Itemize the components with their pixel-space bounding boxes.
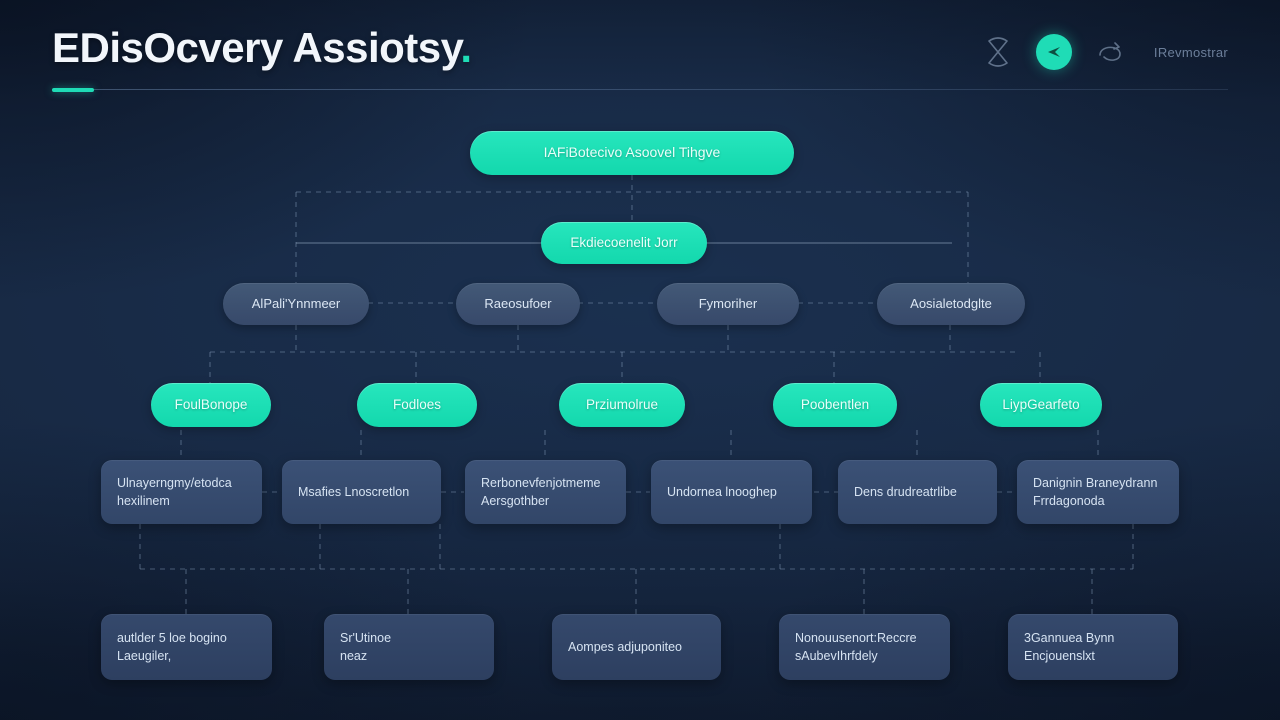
node-level6-2[interactable]: Sr'Utinoeneaz — [324, 614, 494, 680]
node-level3-4[interactable]: Aosialetodglte — [877, 283, 1025, 325]
node-level2[interactable]: Ekdiecoenelit Jorr — [541, 222, 707, 264]
node-level4-4[interactable]: Poobentlen — [773, 383, 897, 427]
node-level6-5[interactable]: 3Gannuea BynnEncjouenslxt — [1008, 614, 1178, 680]
header-toolbar: IRevmostrar — [978, 28, 1228, 76]
node-root[interactable]: IAFiBotecivo Asoovel Tihgve — [470, 131, 794, 175]
page-header: EDisOcvery Assiotsy. IRevmostrar — [0, 0, 1280, 96]
node-level4-2[interactable]: Fodloes — [357, 383, 477, 427]
node-level5-3[interactable]: RerbonevfenjotmemeAersgothber — [465, 460, 626, 524]
diagram-canvas: IAFiBotecivo Asoovel Tihgve Ekdiecoeneli… — [0, 0, 1280, 720]
node-level5-5[interactable]: Dens drudreatrlibe — [838, 460, 997, 524]
divider-line — [52, 89, 1228, 90]
node-level3-2[interactable]: Raeosufoer — [456, 283, 580, 325]
node-level4-1[interactable]: FoulBonope — [151, 383, 271, 427]
node-level5-6[interactable]: Danignin BraneydrannFrrdagonoda — [1017, 460, 1179, 524]
header-divider — [52, 88, 1228, 92]
node-level4-3[interactable]: Prziumolrue — [559, 383, 685, 427]
node-level4-5[interactable]: LiypGearfeto — [980, 383, 1102, 427]
hourglass-icon[interactable] — [978, 32, 1018, 72]
node-level5-1[interactable]: Ulnayerngmy/etodcahexilinem — [101, 460, 262, 524]
node-level3-1[interactable]: AlPali'Ynnmeer — [223, 283, 369, 325]
node-level5-4[interactable]: Undornea lnooghep — [651, 460, 812, 524]
node-level6-4[interactable]: Nonouusenort:ReccresAubevIhrfdely — [779, 614, 950, 680]
send-icon[interactable] — [1036, 34, 1072, 70]
divider-accent-bar — [52, 88, 94, 92]
node-level6-1[interactable]: autlder 5 loe boginoLaeugiler, — [101, 614, 272, 680]
header-status-text: IRevmostrar — [1154, 45, 1228, 60]
loop-icon[interactable] — [1090, 32, 1130, 72]
node-level5-2[interactable]: Msafies Lnoscretlon — [282, 460, 441, 524]
node-level6-3[interactable]: Aompes adjuponiteo — [552, 614, 721, 680]
node-level3-3[interactable]: Fymoriher — [657, 283, 799, 325]
page-title: EDisOcvery Assiotsy. — [52, 24, 472, 72]
title-accent-dot: . — [460, 24, 471, 71]
page-title-text: EDisOcvery Assiotsy — [52, 24, 460, 71]
